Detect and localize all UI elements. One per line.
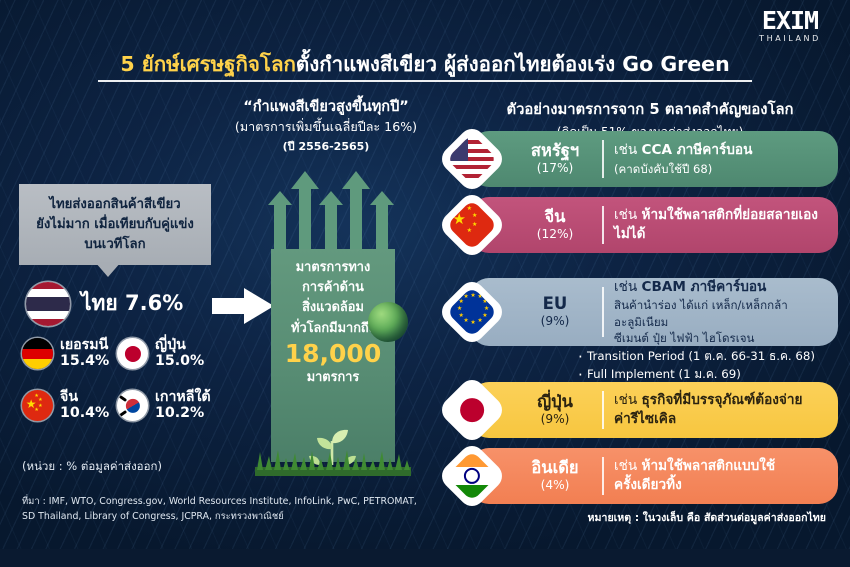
market-measure2-japan: ค่ารีไซเคิล <box>614 410 824 429</box>
pillar-line-2: การค้าด้าน <box>271 278 395 298</box>
market-country-india: อินเดีย <box>508 459 602 477</box>
eu-note-transition: Transition Period (1 ต.ค. 66-31 ธ.ค. 68) <box>578 348 815 366</box>
stat-value-thailand: 7.6% <box>125 291 183 315</box>
stat-row-china: ★★★★★ จีน 10.4% <box>22 390 109 422</box>
infographic-canvas: EXIM THAILAND 5 ยักษ์เศรษฐกิจโลกตั้งกำแพ… <box>0 0 850 567</box>
flag-usa-icon: ★★★★★★ <box>447 134 497 184</box>
stat-row-southkorea: เกาหลีใต้ 10.2% <box>117 390 211 422</box>
flag-germany-icon <box>22 338 53 369</box>
market-measure-usa: CCA ภาษีคาร์บอน <box>642 142 753 158</box>
flag-thailand-icon <box>26 282 70 326</box>
market-lead-japan: เช่น <box>614 392 642 408</box>
market-country-japan: ญี่ปุ่น <box>508 393 602 411</box>
divider <box>602 457 604 495</box>
page-title: 5 ยักษ์เศรษฐกิจโลกตั้งกำแพงสีเขียว ผู้ส่… <box>0 48 850 81</box>
market-row-usa[interactable]: ★★★★★★ สหรัฐฯ (17%) เช่น CCA ภาษีคาร์บอน… <box>470 131 838 187</box>
flag-japan-icon <box>447 385 497 435</box>
market-share-china: (12%) <box>508 228 602 242</box>
callout-tail <box>95 262 121 277</box>
callout-line-3: บนเวทีโลก <box>27 235 203 255</box>
unit-note: (หน่วย : % ต่อมูลค่าส่งออก) <box>22 458 162 476</box>
pillar-line-1: มาตรการทาง <box>271 258 395 278</box>
market-fine-eu: สินค้านำร่อง ได้แก่ เหล็ก/เหล็กกล้า อะลู… <box>614 297 824 329</box>
divider <box>602 287 604 337</box>
thailand-summary-callout: ไทยส่งออกสินค้าสีเขียว ยังไม่มาก เมื่อเท… <box>19 184 211 265</box>
stat-label-thailand: ไทย 7.6% <box>81 292 183 316</box>
footnote: หมายเหตุ : ในวงเล็บ คือ สัดส่วนต่อมูลค่า… <box>588 509 826 526</box>
eu-note-full: Full Implement (1 ม.ค. 69) <box>578 366 815 384</box>
pillar-number: 18,000 <box>271 340 395 368</box>
market-row-eu[interactable]: ★★ ★★ ★★ ★★ ★★ ★★ EU (9%) เช่น CBAM ภาษี… <box>470 278 838 346</box>
market-country-eu: EU <box>508 295 602 313</box>
source-line-1: ที่มา : IMF, WTO, Congress.gov, World Re… <box>22 494 417 509</box>
market-share-japan: (9%) <box>508 413 602 427</box>
market-row-japan[interactable]: ญี่ปุ่น (9%) เช่น ธุรกิจที่มีบรรจุภัณฑ์ต… <box>470 382 838 438</box>
callout-line-2: ยังไม่มาก เมื่อเทียบกับคู่แข่ง <box>27 215 203 235</box>
source-line-2: SD Thailand, Library of Congress, JCPRA,… <box>22 509 417 524</box>
market-measure2-india: ครั้งเดียวทิ้ง <box>614 476 824 495</box>
page-title-rest: ตั้งกำแพงสีเขียว ผู้ส่งออกไทยต้องเร่ง Go… <box>296 52 730 76</box>
grass-icon <box>255 448 411 476</box>
callout-line-1: ไทยส่งออกสินค้าสีเขียว <box>27 195 203 215</box>
logo-subtitle: THAILAND <box>742 35 838 43</box>
globe-icon <box>368 302 408 342</box>
market-lead-india: เช่น <box>614 458 642 474</box>
page-title-highlight: 5 ยักษ์เศรษฐกิจโลก <box>120 52 296 76</box>
divider <box>602 391 604 429</box>
pillar-unit: มาตรการ <box>271 368 395 388</box>
divider <box>602 140 604 178</box>
eu-timeline-notes: Transition Period (1 ต.ค. 66-31 ธ.ค. 68)… <box>578 348 815 383</box>
market-row-india[interactable]: อินเดีย (4%) เช่น ห้ามใช้พลาสติกแบบใช้ ค… <box>470 448 838 504</box>
market-measure-eu: CBAM ภาษีคาร์บอน <box>642 279 767 295</box>
market-fine-usa: (คาดบังคับใช้ปี 68) <box>614 161 824 177</box>
stat-value-germany: 15.4% <box>60 354 109 370</box>
flag-japan-icon <box>117 338 148 369</box>
market-share-usa: (17%) <box>508 162 602 176</box>
market-measure-china: ห้ามใช้พลาสติกที่ย่อยสลายเอง <box>642 207 818 223</box>
market-measure-india: ห้ามใช้พลาสติกแบบใช้ <box>642 458 776 474</box>
market-fine2-eu: ซีเมนต์ ปุ๋ย ไฟฟ้า ไฮโดรเจน <box>614 330 824 346</box>
stat-row-thailand: ไทย 7.6% <box>26 282 183 326</box>
center-heading-line-2: (มาตรการเพิ่มขึ้นเฉลี่ยปีละ 16%) <box>215 118 437 136</box>
market-lead-china: เช่น <box>614 207 642 223</box>
arrow-right-icon <box>212 286 274 326</box>
flag-india-icon <box>447 451 497 501</box>
market-share-india: (4%) <box>508 479 602 493</box>
bottom-strip <box>0 549 850 567</box>
title-divider <box>98 80 752 82</box>
stat-value-japan: 15.0% <box>155 354 204 370</box>
flag-china-icon: ★ ★ ★ ★ ★ <box>447 200 497 250</box>
stat-name-china: จีน <box>60 390 109 406</box>
stat-name-southkorea: เกาหลีใต้ <box>155 390 211 406</box>
market-share-eu: (9%) <box>508 315 602 329</box>
stat-name-germany: เยอรมนี <box>60 338 109 354</box>
flag-southkorea-icon <box>117 390 148 421</box>
logo-wordmark: EXIM <box>742 8 838 33</box>
flag-eu-icon: ★★ ★★ ★★ ★★ ★★ ★★ <box>447 287 497 337</box>
stat-name-thailand: ไทย <box>81 291 118 315</box>
center-heading-line-3: (ปี 2556-2565) <box>215 137 437 155</box>
source-note: ที่มา : IMF, WTO, Congress.gov, World Re… <box>22 494 417 524</box>
right-heading-line-1: ตัวอย่างมาตรการจาก 5 ตลาดสำคัญของโลก <box>450 97 850 121</box>
divider <box>602 206 604 244</box>
growth-arrows-icon <box>266 163 400 251</box>
stat-value-southkorea: 10.2% <box>155 406 211 422</box>
stat-value-china: 10.4% <box>60 406 109 422</box>
center-heading-line-1: “กำแพงสีเขียวสูงขึ้นทุกปี” <box>215 98 437 117</box>
stat-row-germany: เยอรมนี 15.4% <box>22 338 109 370</box>
market-row-china[interactable]: ★ ★ ★ ★ ★ จีน (12%) เช่น ห้ามใช้พลาสติกท… <box>470 197 838 253</box>
center-heading: “กำแพงสีเขียวสูงขึ้นทุกปี” (มาตรการเพิ่ม… <box>215 98 437 155</box>
flag-china-icon: ★★★★★ <box>22 390 53 421</box>
stat-name-japan: ญี่ปุ่น <box>155 338 204 354</box>
market-measure-japan: ธุรกิจที่มีบรรจุภัณฑ์ต้องจ่าย <box>642 392 803 408</box>
exim-thailand-logo: EXIM THAILAND <box>742 8 838 43</box>
market-lead-usa: เช่น <box>614 142 642 158</box>
market-lead-eu: เช่น <box>614 279 642 295</box>
stat-row-japan: ญี่ปุ่น 15.0% <box>117 338 204 370</box>
market-measure2-china: ไม่ได้ <box>614 225 824 244</box>
market-country-china: จีน <box>508 208 602 226</box>
market-country-usa: สหรัฐฯ <box>508 142 602 160</box>
